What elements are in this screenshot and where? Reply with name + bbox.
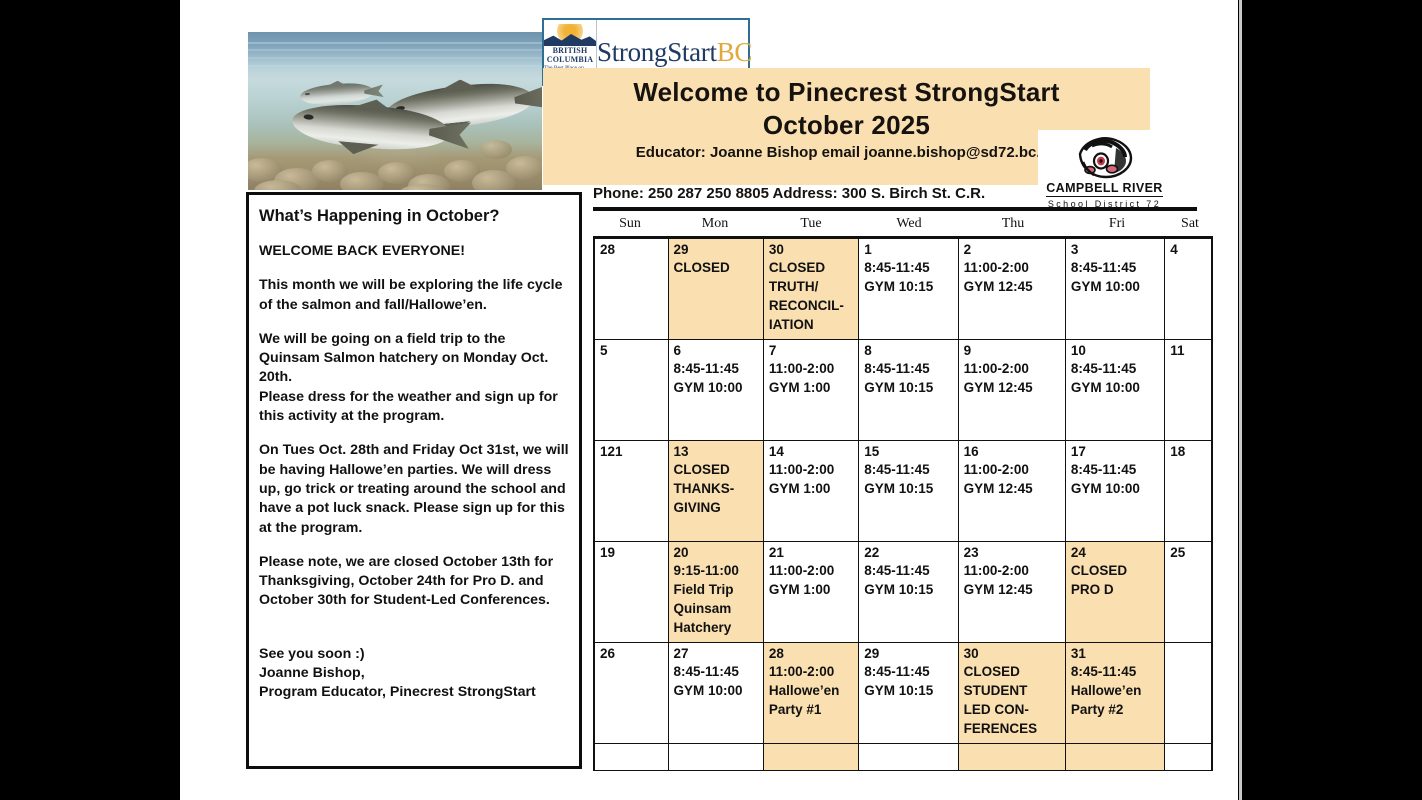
calendar-day-number: 8	[864, 343, 953, 359]
calendar-event-line: 11:00-2:00	[964, 561, 1061, 580]
calendar-day-number: 31	[1071, 646, 1160, 662]
title-line-1: Welcome to Pinecrest StrongStart	[543, 76, 1150, 109]
calendar-day-cell[interactable]: 88:45-11:45GYM 10:15	[859, 340, 958, 440]
calendar-day-cell[interactable]: 178:45-11:45GYM 10:00	[1066, 441, 1165, 541]
calendar-header-fri: Fri	[1067, 214, 1167, 236]
calendar-event-line: Quinsam	[674, 599, 759, 618]
calendar-event-line: 11:00-2:00	[964, 460, 1061, 479]
calendar-event-line: LED CON-	[964, 700, 1061, 719]
calendar-week-row: 12113CLOSEDTHANKS-GIVING1411:00-2:00GYM …	[595, 441, 1211, 542]
signature-line-2: Program Educator, Pinecrest StrongStart	[259, 683, 569, 702]
calendar-day-cell[interactable]: 11	[1165, 340, 1211, 440]
calendar-day-number: 24	[1071, 545, 1160, 561]
page-right-edge	[1239, 0, 1242, 800]
calendar-event-line: GYM 1:00	[769, 479, 854, 498]
calendar-day-cell[interactable]: 211:00-2:00GYM 12:45	[959, 239, 1066, 339]
calendar-event-line: CLOSED	[964, 662, 1061, 681]
calendar-event-line: GYM 1:00	[769, 378, 854, 397]
signature-line-0: See you soon :)	[259, 645, 569, 664]
calendar-day-cell[interactable]: 711:00-2:00GYM 1:00	[764, 340, 859, 440]
calendar-day-number: 19	[600, 545, 664, 561]
calendar-event-line: GYM 10:15	[864, 277, 953, 296]
signature-line-1: Joanne Bishop,	[259, 664, 569, 683]
calendar-day-number: 23	[964, 545, 1061, 561]
calendar-day-number: 5	[600, 343, 664, 359]
calendar-day-headers: SunMonTueWedThuFriSat	[593, 214, 1213, 236]
calendar-event-line: Party #1	[769, 700, 854, 719]
calendar-event-line: Party #2	[1071, 700, 1160, 719]
strongstart-wordmark: StrongStartBC	[597, 37, 752, 68]
calendar-event-line: RECONCIL-	[769, 296, 854, 315]
calendar-day-cell[interactable]	[669, 744, 764, 770]
campbell-river-sd72-logo: CAMPBELL RIVER School District 72	[1038, 130, 1171, 218]
calendar-event-line: THANKS-	[674, 479, 759, 498]
calendar-day-cell[interactable]: 2111:00-2:00GYM 1:00	[764, 542, 859, 642]
calendar-event-line: Hatchery	[674, 618, 759, 637]
calendar-day-cell[interactable]	[1165, 744, 1211, 770]
calendar-day-cell[interactable]: 18:45-11:45GYM 10:15	[859, 239, 958, 339]
calendar-day-number: 15	[864, 444, 953, 460]
notes-paragraph-2: We will be going on a field trip to the …	[259, 330, 569, 388]
notes-heading: What’s Happening in October?	[259, 207, 569, 226]
calendar-day-number: 1	[864, 242, 953, 258]
calendar-day-number: 26	[600, 646, 664, 662]
calendar-event-line: GYM 10:00	[1071, 277, 1160, 296]
calendar-day-cell[interactable]: 5	[595, 340, 669, 440]
calendar-day-number: 22	[864, 545, 953, 561]
calendar-day-cell[interactable]	[595, 744, 669, 770]
calendar-day-number: 30	[964, 646, 1061, 662]
notes-paragraph-0: WELCOME BACK EVERYONE!	[259, 242, 569, 261]
calendar-event-line: GYM 1:00	[769, 580, 854, 599]
calendar-day-cell[interactable]: 318:45-11:45Hallowe’enParty #2	[1066, 643, 1165, 743]
calendar-event-line: GYM 12:45	[964, 479, 1061, 498]
calendar-day-cell[interactable]: 298:45-11:45GYM 10:15	[859, 643, 958, 743]
calendar-event-line: GIVING	[674, 498, 759, 517]
calendar-day-number: 4	[1170, 242, 1207, 258]
bc-logo-line1: BRITISH	[553, 46, 588, 55]
calendar-day-cell[interactable]: 108:45-11:45GYM 10:00	[1066, 340, 1165, 440]
calendar-event-line: TRUTH/	[769, 277, 854, 296]
notes-paragraph-4: On Tues Oct. 28th and Friday Oct 31st, w…	[259, 441, 569, 537]
calendar-day-number: 21	[769, 545, 854, 561]
calendar-week-row: 19209:15-11:00Field TripQuinsamHatchery2…	[595, 542, 1211, 643]
calendar-header-wed: Wed	[859, 214, 959, 236]
screen: BRITISH COLUMBIA The Best Place on Earth…	[0, 0, 1422, 800]
calendar-grid: 2829CLOSED30CLOSEDTRUTH/RECONCIL-IATION1…	[593, 236, 1213, 771]
calendar-day-cell[interactable]	[859, 744, 958, 770]
calendar-day-cell[interactable]	[1165, 643, 1211, 743]
calendar-day-number: 10	[1071, 343, 1160, 359]
calendar-event-line: 11:00-2:00	[964, 359, 1061, 378]
bc-sun-mountain-icon	[544, 24, 596, 46]
calendar-event-line: GYM 10:00	[1071, 479, 1160, 498]
calendar-day-cell[interactable]: 1611:00-2:00GYM 12:45	[959, 441, 1066, 541]
calendar-day-cell[interactable]: 19	[595, 542, 669, 642]
calendar-week-row: 2829CLOSED30CLOSEDTRUTH/RECONCIL-IATION1…	[595, 239, 1211, 340]
bc-logo-line2: COLUMBIA	[547, 55, 594, 64]
calendar-day-number: 29	[864, 646, 953, 662]
calendar-event-line: 8:45-11:45	[1071, 662, 1160, 681]
calendar-day-number: 30	[769, 242, 854, 258]
calendar-header-tue: Tue	[763, 214, 859, 236]
calendar-day-cell[interactable]: 2811:00-2:00Hallowe’enParty #1	[764, 643, 859, 743]
calendar-event-line: 9:15-11:00	[674, 561, 759, 580]
calendar-header-thu: Thu	[959, 214, 1067, 236]
calendar-event-line: GYM 10:00	[674, 681, 759, 700]
calendar-event-line: PRO D	[1071, 580, 1160, 599]
calendar-event-line: GYM 10:15	[864, 681, 953, 700]
calendar-event-line: STUDENT	[964, 681, 1061, 700]
calendar-event-line: 8:45-11:45	[1071, 359, 1160, 378]
calendar-week-row: 26278:45-11:45GYM 10:002811:00-2:00Hallo…	[595, 643, 1211, 744]
strongstart-word: StrongStart	[597, 37, 717, 68]
calendar-day-cell[interactable]: 2311:00-2:00GYM 12:45	[959, 542, 1066, 642]
salmon-photo	[248, 32, 542, 190]
calendar-event-line: GYM 10:15	[864, 580, 953, 599]
calendar-event-line: GYM 10:00	[674, 378, 759, 397]
calendar-event-line: GYM 10:15	[864, 378, 953, 397]
calendar-day-cell[interactable]: 278:45-11:45GYM 10:00	[669, 643, 764, 743]
calendar-event-line: 8:45-11:45	[864, 662, 953, 681]
calendar-day-cell[interactable]: 24CLOSEDPRO D	[1066, 542, 1165, 642]
calendar-event-line: Field Trip	[674, 580, 759, 599]
formline-salmon-svg	[1076, 134, 1134, 180]
calendar-event-line: CLOSED	[674, 460, 759, 479]
notes-signature: See you soon :) Joanne Bishop, Program E…	[259, 645, 569, 703]
whats-happening-box: What’s Happening in October? WELCOME BAC…	[246, 192, 582, 769]
document-page: BRITISH COLUMBIA The Best Place on Earth…	[180, 0, 1238, 800]
calendar-day-number: 9	[964, 343, 1061, 359]
calendar-event-line: GYM 12:45	[964, 277, 1061, 296]
calendar-event-line: 8:45-11:45	[1071, 460, 1160, 479]
calendar-day-number: 17	[1071, 444, 1160, 460]
notes-paragraph-3: Please dress for the weather and sign up…	[259, 388, 569, 427]
calendar-day-number: 20	[674, 545, 759, 561]
calendar-day-cell[interactable]: 30CLOSEDTRUTH/RECONCIL-IATION	[764, 239, 859, 339]
header-divider-rule	[593, 207, 1197, 211]
strongstart-bc-suffix: BC	[717, 37, 752, 68]
calendar-day-number: 27	[674, 646, 759, 662]
calendar-event-line: GYM 12:45	[964, 378, 1061, 397]
calendar-day-cell[interactable]: 158:45-11:45GYM 10:15	[859, 441, 958, 541]
calendar-day-number: 11	[1170, 343, 1207, 359]
calendar-event-line: 8:45-11:45	[674, 662, 759, 681]
calendar-header-sat: Sat	[1167, 214, 1213, 236]
calendar-event-line: IATION	[769, 315, 854, 334]
calendar-week-row	[595, 744, 1211, 771]
calendar-day-cell[interactable]: 4	[1165, 239, 1211, 339]
calendar-day-number: 121	[600, 444, 664, 460]
calendar-day-cell[interactable]	[959, 744, 1066, 770]
calendar-day-cell[interactable]: 228:45-11:45GYM 10:15	[859, 542, 958, 642]
calendar-event-line: 8:45-11:45	[1071, 258, 1160, 277]
calendar-day-cell[interactable]: 30CLOSEDSTUDENTLED CON-FERENCES	[959, 643, 1066, 743]
calendar-day-cell[interactable]: 209:15-11:00Field TripQuinsamHatchery	[669, 542, 764, 642]
calendar-event-line: FERENCES	[964, 719, 1061, 738]
calendar-event-line: 8:45-11:45	[674, 359, 759, 378]
calendar-day-number: 16	[964, 444, 1061, 460]
calendar-day-number: 13	[674, 444, 759, 460]
calendar-day-cell[interactable]: 29CLOSED	[669, 239, 764, 339]
calendar-day-number: 2	[964, 242, 1061, 258]
calendar-day-cell[interactable]: 28	[595, 239, 669, 339]
calendar-event-line: 8:45-11:45	[864, 359, 953, 378]
calendar-day-number: 29	[674, 242, 759, 258]
calendar-event-line: GYM 10:15	[864, 479, 953, 498]
calendar-day-number: 6	[674, 343, 759, 359]
calendar-day-cell[interactable]: 1411:00-2:00GYM 1:00	[764, 441, 859, 541]
calendar-event-line: 8:45-11:45	[864, 561, 953, 580]
calendar-header-sun: Sun	[593, 214, 667, 236]
calendar-day-number: 28	[769, 646, 854, 662]
calendar-day-cell[interactable]: 121	[595, 441, 669, 541]
calendar-day-cell[interactable]: 25	[1165, 542, 1211, 642]
monthly-calendar: SunMonTueWedThuFriSat 2829CLOSED30CLOSED…	[593, 214, 1213, 771]
calendar-week-row: 568:45-11:45GYM 10:00711:00-2:00GYM 1:00…	[595, 340, 1211, 441]
formline-salmon-icon	[1076, 134, 1134, 180]
calendar-event-line: 11:00-2:00	[769, 359, 854, 378]
calendar-day-number: 25	[1170, 545, 1207, 561]
calendar-day-number: 14	[769, 444, 854, 460]
calendar-day-cell[interactable]	[764, 744, 859, 770]
calendar-day-cell[interactable]: 68:45-11:45GYM 10:00	[669, 340, 764, 440]
calendar-day-number: 28	[600, 242, 664, 258]
calendar-event-line: CLOSED	[1071, 561, 1160, 580]
calendar-event-line: GYM 12:45	[964, 580, 1061, 599]
calendar-event-line: Hallowe’en	[1071, 681, 1160, 700]
calendar-header-mon: Mon	[667, 214, 763, 236]
calendar-day-number: 7	[769, 343, 854, 359]
calendar-day-cell[interactable]: 13CLOSEDTHANKS-GIVING	[669, 441, 764, 541]
calendar-event-line: 11:00-2:00	[769, 662, 854, 681]
calendar-event-line: GYM 10:00	[1071, 378, 1160, 397]
calendar-day-cell[interactable]: 26	[595, 643, 669, 743]
notes-paragraph-5: Please note, we are closed October 13th …	[259, 553, 569, 611]
campbell-river-name: CAMPBELL RIVER	[1046, 181, 1163, 197]
notes-paragraph-1: This month we will be exploring the life…	[259, 276, 569, 315]
calendar-event-line: 8:45-11:45	[864, 460, 953, 479]
calendar-event-line: CLOSED	[674, 258, 759, 277]
calendar-day-number: 18	[1170, 444, 1207, 460]
calendar-day-cell[interactable]: 38:45-11:45GYM 10:00	[1066, 239, 1165, 339]
calendar-day-cell[interactable]: 911:00-2:00GYM 12:45	[959, 340, 1066, 440]
calendar-event-line: 8:45-11:45	[864, 258, 953, 277]
calendar-event-line: CLOSED	[769, 258, 854, 277]
calendar-day-number: 3	[1071, 242, 1160, 258]
calendar-event-line: 11:00-2:00	[769, 460, 854, 479]
calendar-day-cell[interactable]	[1066, 744, 1165, 770]
calendar-event-line: Hallowe’en	[769, 681, 854, 700]
calendar-day-cell[interactable]: 18	[1165, 441, 1211, 541]
calendar-event-line: 11:00-2:00	[964, 258, 1061, 277]
calendar-event-line: 11:00-2:00	[769, 561, 854, 580]
